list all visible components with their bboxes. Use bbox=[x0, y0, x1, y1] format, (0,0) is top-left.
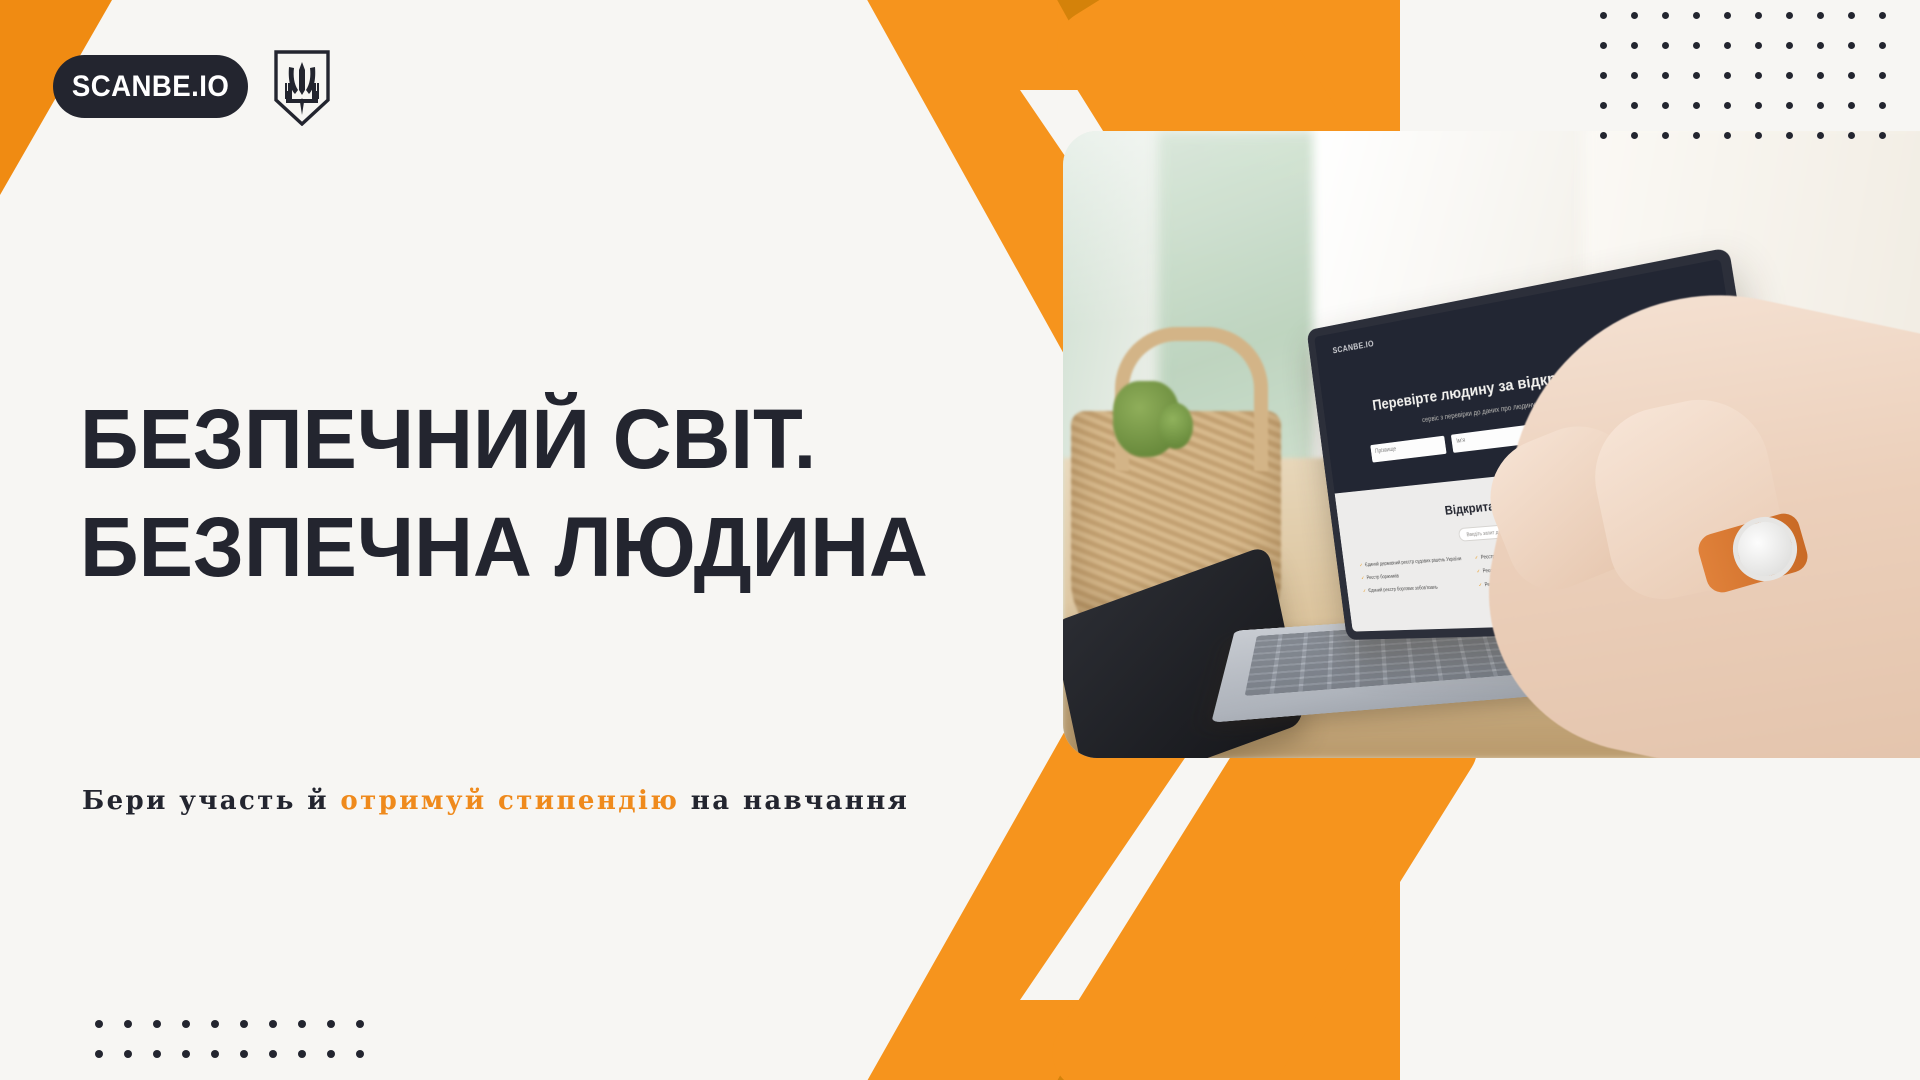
decorative-dot bbox=[1879, 72, 1886, 79]
decorative-dot bbox=[1817, 12, 1824, 19]
headline-line-1: БЕЗПЕЧНИЙ СВІТ. bbox=[80, 395, 817, 483]
headline-block: БЕЗПЕЧНИЙ СВІТ. БЕЗПЕЧНА ЛЮДИНА bbox=[80, 395, 840, 591]
decorative-dot bbox=[1662, 132, 1669, 139]
decorative-dot bbox=[1631, 102, 1638, 109]
decorative-dot bbox=[124, 1020, 132, 1028]
decorative-dot bbox=[95, 1020, 103, 1028]
photo-scene: SCANBE.IO Перевірте людину за відкритими… bbox=[1063, 131, 1920, 758]
decorative-dot bbox=[1817, 102, 1824, 109]
decorative-dot bbox=[1786, 132, 1793, 139]
decorative-dot bbox=[1724, 12, 1731, 19]
decorative-dot bbox=[240, 1050, 248, 1058]
decorative-dot bbox=[1631, 132, 1638, 139]
decorative-dot bbox=[1848, 102, 1855, 109]
screen-registry-item: Єдиний державний реєстр судових рішень У… bbox=[1359, 555, 1467, 569]
decorative-dot bbox=[1662, 42, 1669, 49]
decorative-dot bbox=[211, 1020, 219, 1028]
decorative-dot bbox=[1631, 72, 1638, 79]
decorative-dot bbox=[1786, 42, 1793, 49]
decorative-dot bbox=[1848, 72, 1855, 79]
scanbe-logo-pill[interactable]: SCANBE.IO bbox=[53, 55, 248, 118]
decorative-dot bbox=[95, 1050, 103, 1058]
decorative-dot bbox=[1724, 102, 1731, 109]
decorative-dot bbox=[269, 1020, 277, 1028]
decorative-dot bbox=[1817, 72, 1824, 79]
decorative-dot bbox=[356, 1020, 364, 1028]
dot-grid-top-right bbox=[1600, 12, 1900, 142]
decorative-dot bbox=[1600, 12, 1607, 19]
subtitle-before: Бери участь й bbox=[82, 786, 340, 816]
decorative-dot bbox=[1693, 72, 1700, 79]
decorative-dot bbox=[1662, 72, 1669, 79]
decorative-dot bbox=[1755, 42, 1762, 49]
decorative-dot bbox=[1631, 12, 1638, 19]
decorative-dot bbox=[1724, 72, 1731, 79]
decorative-dot bbox=[1755, 12, 1762, 19]
decorative-dot bbox=[298, 1050, 306, 1058]
promo-poster: SCANBE.IO Перевірте людину за відкритими… bbox=[0, 0, 1920, 1080]
decorative-dot bbox=[1693, 42, 1700, 49]
screen-registry-item: Єдиний реєстр боргових зобов'язань bbox=[1363, 582, 1471, 595]
decorative-dot bbox=[1600, 42, 1607, 49]
decorative-dot bbox=[182, 1050, 190, 1058]
decorative-dot bbox=[1848, 12, 1855, 19]
decorative-dot bbox=[1755, 132, 1762, 139]
decorative-dot bbox=[153, 1020, 161, 1028]
dot-grid-bottom-left bbox=[95, 1020, 355, 1060]
screen-brand-logo: SCANBE.IO bbox=[1332, 339, 1374, 356]
decorative-dot bbox=[269, 1050, 277, 1058]
decorative-dot bbox=[1879, 102, 1886, 109]
decorative-dot bbox=[1724, 42, 1731, 49]
decorative-dot bbox=[1600, 102, 1607, 109]
decorative-dot bbox=[1662, 102, 1669, 109]
decorative-dot bbox=[1755, 72, 1762, 79]
subtitle-accent: отримуй стипендію bbox=[340, 786, 679, 816]
headline-line-2: БЕЗПЕЧНА ЛЮДИНА bbox=[80, 503, 817, 591]
subtitle-after: на навчання bbox=[679, 786, 909, 816]
decorative-dot bbox=[1786, 12, 1793, 19]
decorative-dot bbox=[1600, 132, 1607, 139]
decorative-dot bbox=[124, 1050, 132, 1058]
decorative-dot bbox=[327, 1050, 335, 1058]
decorative-dot bbox=[1724, 132, 1731, 139]
decorative-dot bbox=[1755, 102, 1762, 109]
decorative-dot bbox=[1693, 102, 1700, 109]
decorative-dot bbox=[1693, 132, 1700, 139]
decorative-dot bbox=[1817, 42, 1824, 49]
hero-photo: SCANBE.IO Перевірте людину за відкритими… bbox=[1063, 131, 1920, 758]
decorative-dot bbox=[153, 1050, 161, 1058]
decorative-dot bbox=[1848, 132, 1855, 139]
photo-cactus-small bbox=[1159, 403, 1193, 449]
decorative-dot bbox=[1631, 42, 1638, 49]
decorative-dot bbox=[1879, 132, 1886, 139]
screen-registry-item: Реєстр боржників bbox=[1361, 569, 1469, 583]
decorative-dot bbox=[1600, 72, 1607, 79]
decorative-dot bbox=[1817, 132, 1824, 139]
decorative-dot bbox=[298, 1020, 306, 1028]
scanbe-logo-text: SCANBE.IO bbox=[72, 70, 229, 104]
decorative-dot bbox=[1662, 12, 1669, 19]
decorative-dot bbox=[356, 1050, 364, 1058]
decorative-dot bbox=[1786, 72, 1793, 79]
screen-registry-column: Єдиний державний реєстр судових рішень У… bbox=[1359, 555, 1471, 601]
subtitle-block: Бери участь й отримуй стипендію на навча… bbox=[82, 786, 909, 816]
ukraine-trident-emblem bbox=[273, 50, 331, 126]
decorative-dot bbox=[1879, 42, 1886, 49]
decorative-dot bbox=[211, 1050, 219, 1058]
decorative-dot bbox=[1786, 102, 1793, 109]
decorative-dot bbox=[1693, 12, 1700, 19]
decorative-dot bbox=[1848, 42, 1855, 49]
decorative-dot bbox=[182, 1020, 190, 1028]
decorative-dot bbox=[1879, 12, 1886, 19]
decorative-dot bbox=[240, 1020, 248, 1028]
screen-field-surname: Прізвище bbox=[1370, 436, 1447, 463]
decorative-dot bbox=[327, 1020, 335, 1028]
